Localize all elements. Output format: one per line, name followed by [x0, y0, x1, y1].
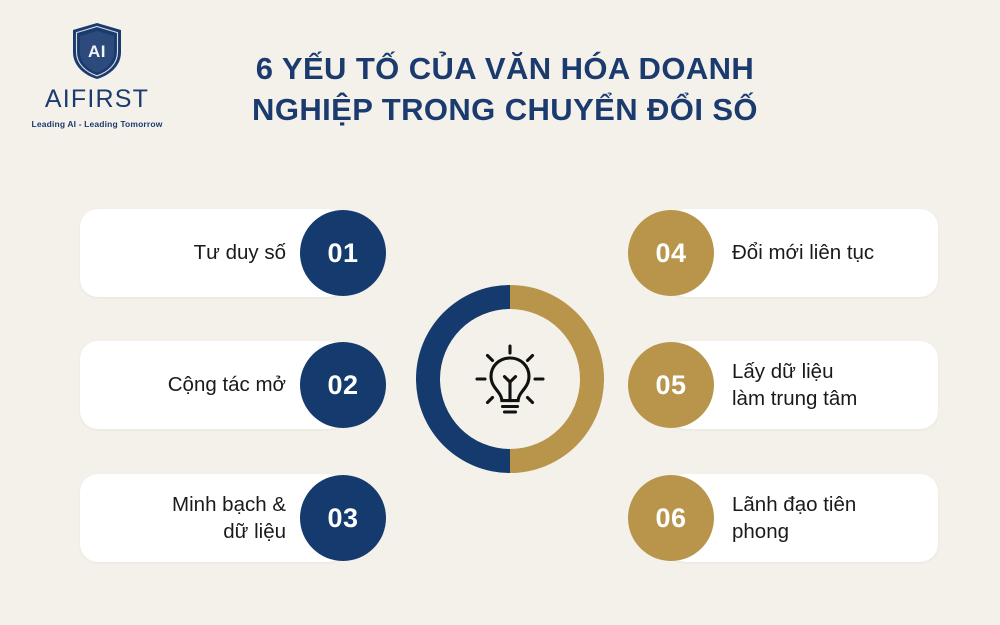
item-number-badge: 06 [628, 475, 714, 561]
center-graphic [409, 278, 611, 480]
item-label-line: làm trung tâm [732, 385, 857, 412]
list-item[interactable]: Lãnh đạo tiên phong 06 [628, 474, 938, 562]
brand-wordmark: AIFIRST [45, 87, 149, 112]
brand-logo: AI AIFIRST Leading AI - Leading Tomorrow [22, 22, 172, 134]
list-item[interactable]: Lấy dữ liệu làm trung tâm 05 [628, 341, 938, 429]
item-label-line: Lấy dữ liệu [732, 358, 833, 385]
list-item[interactable]: Đổi mới liên tục 04 [628, 209, 938, 297]
item-label: Minh bạch & dữ liệu [92, 474, 286, 562]
item-label: Lấy dữ liệu làm trung tâm [732, 341, 928, 429]
item-number-badge: 02 [300, 342, 386, 428]
list-item[interactable]: Minh bạch & dữ liệu 03 [80, 474, 386, 562]
page-title-line-1: 6 YẾU TỐ CỦA VĂN HÓA DOANH [200, 48, 810, 89]
lightbulb-icon [467, 336, 553, 422]
svg-text:AI: AI [88, 42, 106, 61]
item-label-line: phong [732, 518, 789, 545]
item-label: Tư duy số [92, 209, 286, 297]
item-label-line: Cộng tác mở [168, 371, 286, 398]
item-label: Cộng tác mở [92, 341, 286, 429]
shield-ai-icon: AI [69, 22, 125, 80]
item-label-line: Minh bạch & [172, 491, 286, 518]
item-label-line: Lãnh đạo tiên [732, 491, 856, 518]
item-number-badge: 04 [628, 210, 714, 296]
item-label-line: Đổi mới liên tục [732, 239, 874, 266]
item-label: Lãnh đạo tiên phong [732, 474, 928, 562]
list-item[interactable]: Tư duy số 01 [80, 209, 386, 297]
item-label-line: dữ liệu [223, 518, 286, 545]
item-number-badge: 01 [300, 210, 386, 296]
list-item[interactable]: Cộng tác mở 02 [80, 341, 386, 429]
item-number-badge: 03 [300, 475, 386, 561]
brand-tagline: Leading AI - Leading Tomorrow [32, 119, 163, 129]
item-label: Đổi mới liên tục [732, 209, 928, 297]
page-title: 6 YẾU TỐ CỦA VĂN HÓA DOANH NGHIỆP TRONG … [200, 48, 810, 130]
item-label-line: Tư duy số [194, 239, 286, 266]
page-title-line-2: NGHIỆP TRONG CHUYỂN ĐỔI SỐ [200, 89, 810, 130]
item-number-badge: 05 [628, 342, 714, 428]
